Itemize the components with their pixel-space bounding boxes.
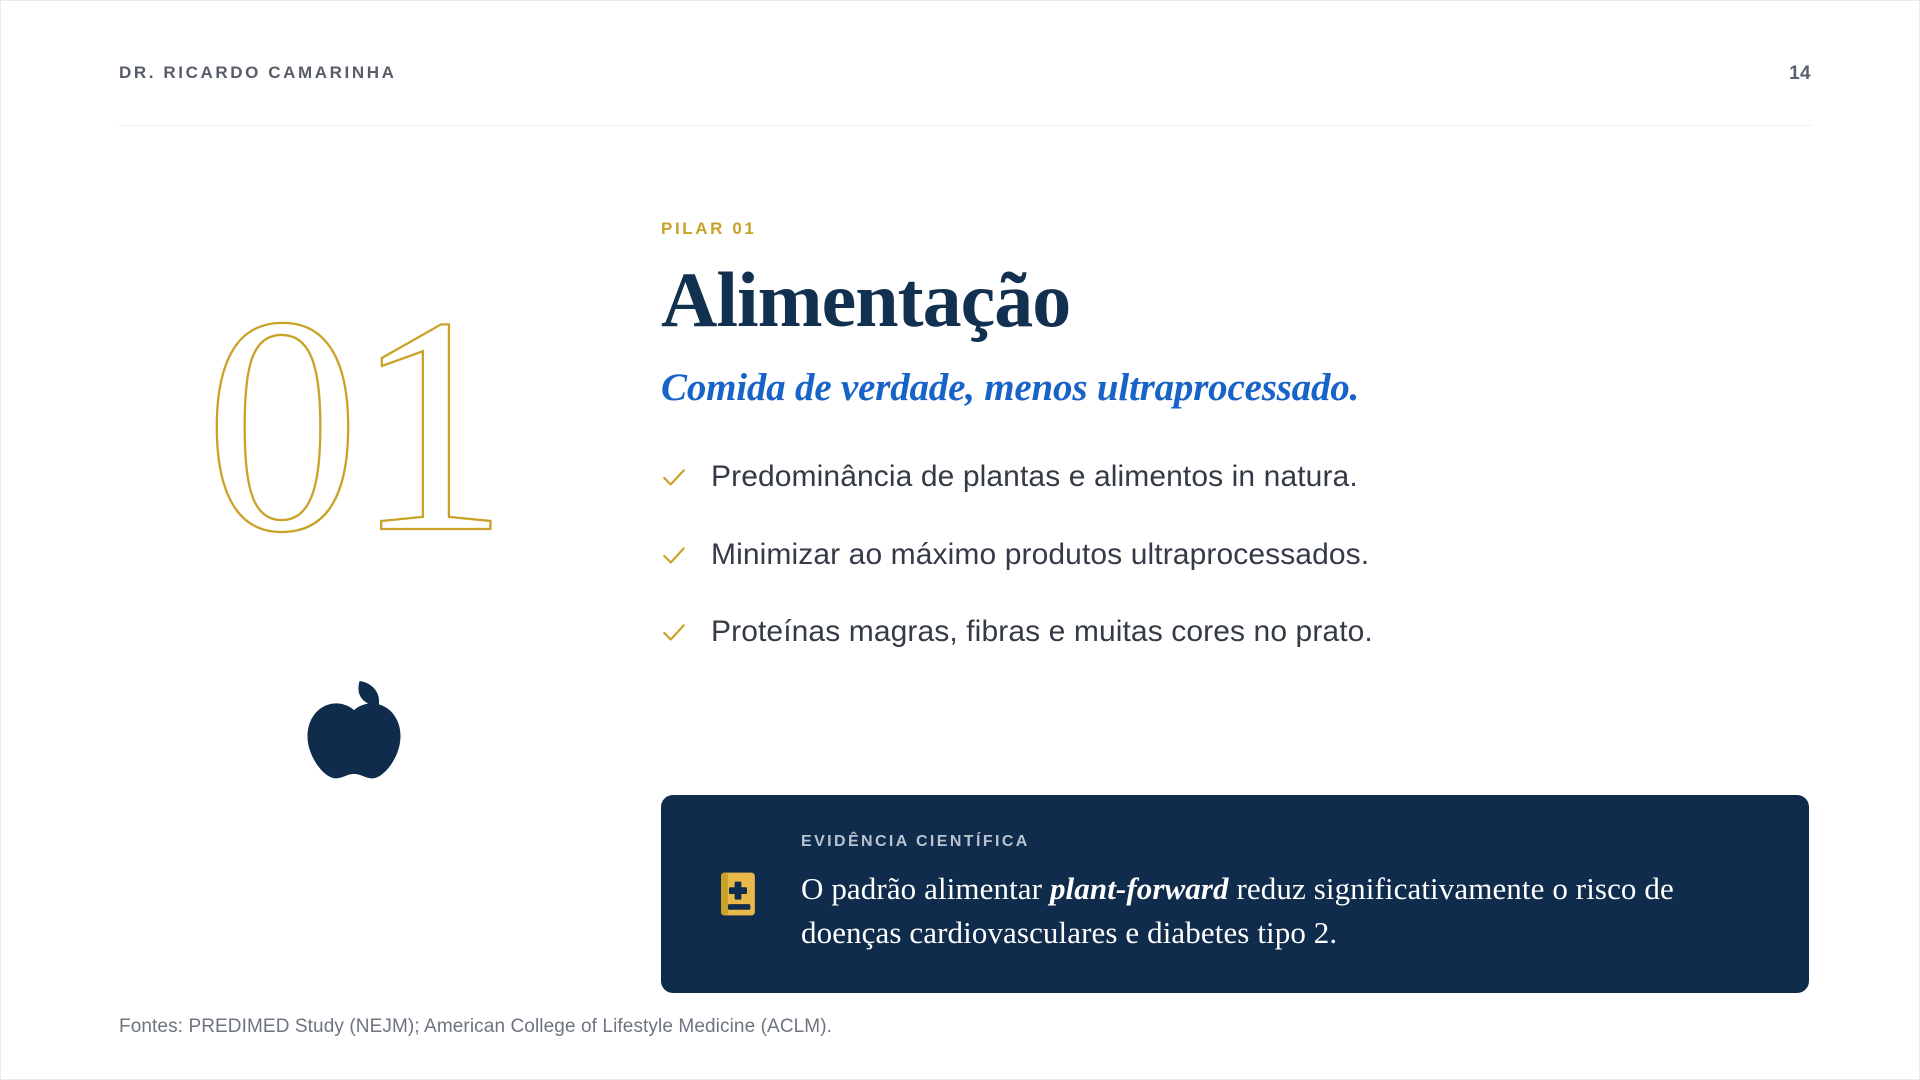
evidence-text: O padrão alimentar plant-forward reduz s… xyxy=(801,867,1763,955)
list-item: Predominância de plantas e alimentos in … xyxy=(661,458,1811,496)
big-number-text: 01 xyxy=(205,321,503,571)
list-item: Proteínas magras, fibras e muitas cores … xyxy=(661,613,1811,651)
footer-sources: Fontes: PREDIMED Study (NEJM); American … xyxy=(119,1016,832,1038)
check-icon xyxy=(661,543,687,569)
header-author: DR. RICARDO CAMARINHA xyxy=(119,63,396,83)
left-visual-column: 01 xyxy=(119,321,589,793)
evidence-callout: EVIDÊNCIA CIENTÍFICA O padrão alimentar … xyxy=(661,795,1809,993)
slide-header: DR. RICARDO CAMARINHA 14 xyxy=(119,63,1811,123)
header-divider xyxy=(119,125,1811,126)
list-item-label: Minimizar ao máximo produtos ultraproces… xyxy=(711,536,1369,574)
evidence-label: EVIDÊNCIA CIENTÍFICA xyxy=(801,833,1763,851)
page-title: Alimentação xyxy=(661,261,1811,339)
content-column: PILAR 01 Alimentação Comida de verdade, … xyxy=(661,219,1811,697)
medical-book-icon xyxy=(709,865,767,923)
list-item-label: Proteínas magras, fibras e muitas cores … xyxy=(711,613,1373,651)
check-icon xyxy=(661,465,687,491)
list-item-label: Predominância de plantas e alimentos in … xyxy=(711,458,1358,496)
slide: DR. RICARDO CAMARINHA 14 01 PILAR 01 Ali… xyxy=(0,0,1920,1080)
evidence-body: EVIDÊNCIA CIENTÍFICA O padrão alimentar … xyxy=(801,833,1763,955)
list-item: Minimizar ao máximo produtos ultraproces… xyxy=(661,536,1811,574)
page-subtitle: Comida de verdade, menos ultraprocessado… xyxy=(661,365,1811,410)
big-number-outline: 01 xyxy=(144,321,564,571)
evidence-text-emphasis: plant-forward xyxy=(1050,871,1229,906)
apple-icon xyxy=(289,663,419,793)
page-number: 14 xyxy=(1789,63,1811,85)
evidence-text-before: O padrão alimentar xyxy=(801,871,1050,906)
check-icon xyxy=(661,620,687,646)
bullet-list: Predominância de plantas e alimentos in … xyxy=(661,458,1811,651)
pillar-eyebrow: PILAR 01 xyxy=(661,219,1811,239)
